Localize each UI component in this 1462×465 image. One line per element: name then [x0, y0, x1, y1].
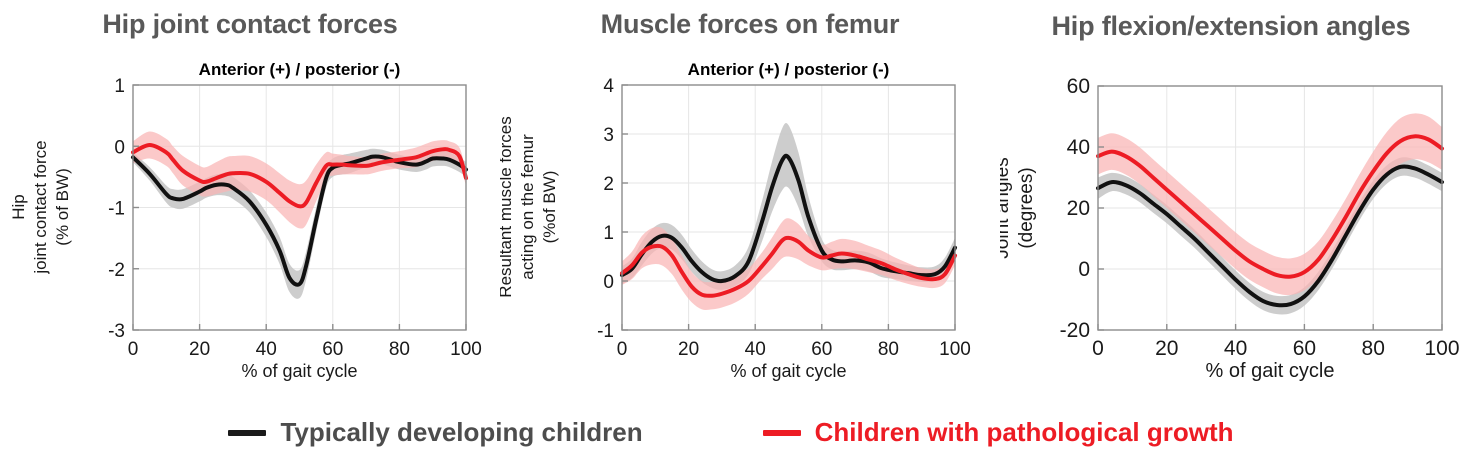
chart-svg-hip-flexion-extension-angles: 0204060801006040200-20% of gait cycleJoi… — [1000, 72, 1462, 400]
svg-text:(degrees): (degrees) — [1016, 167, 1037, 248]
legend-item-typically-developing: Typically developing children — [228, 417, 642, 448]
svg-text:% of gait cycle: % of gait cycle — [730, 361, 846, 381]
svg-text:0: 0 — [128, 339, 139, 360]
chart-svg-muscle-forces-on-femur: 02040608010043210-1Anterior (+) / poster… — [500, 55, 1000, 400]
svg-text:100: 100 — [450, 339, 482, 360]
svg-text:40: 40 — [256, 339, 277, 360]
panel-title: Hip flexion/extension angles — [1000, 12, 1462, 41]
svg-text:60: 60 — [1067, 75, 1090, 98]
svg-text:3: 3 — [603, 125, 614, 146]
svg-text:0: 0 — [617, 339, 628, 360]
svg-text:-3: -3 — [108, 321, 125, 342]
svg-text:joint contact force: joint contact force — [31, 140, 50, 274]
gait-analysis-figure: Hip joint contact forces 02040608010010-… — [0, 0, 1462, 465]
svg-text:20: 20 — [1067, 197, 1090, 220]
svg-text:(% of BW): (% of BW) — [53, 168, 72, 245]
svg-text:0: 0 — [1092, 337, 1104, 360]
figure-legend: Typically developing children Children w… — [0, 400, 1462, 465]
chart-svg-hip-joint-contact-forces: 02040608010010-1-2-3Anterior (+) / poste… — [0, 55, 500, 400]
legend-swatch-pathological-growth — [763, 430, 801, 436]
svg-text:1: 1 — [603, 223, 614, 244]
svg-text:100: 100 — [1424, 337, 1459, 360]
svg-text:40: 40 — [1224, 337, 1247, 360]
svg-text:Anterior (+) / posterior (-): Anterior (+) / posterior (-) — [199, 60, 401, 79]
legend-swatch-typically-developing — [228, 430, 266, 436]
svg-text:40: 40 — [745, 339, 766, 360]
svg-text:60: 60 — [1293, 337, 1316, 360]
plot-area-wrapper: 02040608010043210-1Anterior (+) / poster… — [500, 55, 1000, 400]
legend-label-typically-developing: Typically developing children — [280, 417, 642, 448]
chart-panels-row: Hip joint contact forces 02040608010010-… — [0, 0, 1462, 400]
svg-text:40: 40 — [1067, 136, 1090, 159]
svg-text:60: 60 — [322, 339, 343, 360]
svg-text:80: 80 — [878, 339, 899, 360]
panel-title: Hip joint contact forces — [0, 10, 500, 39]
svg-text:% of gait cycle: % of gait cycle — [1206, 360, 1335, 382]
panel-muscle-forces-on-femur: Muscle forces on femur 02040608010043210… — [500, 0, 1000, 400]
svg-text:(%of BW): (%of BW) — [540, 171, 559, 244]
svg-text:80: 80 — [1362, 337, 1385, 360]
svg-text:Hip: Hip — [9, 194, 28, 220]
svg-text:-1: -1 — [597, 321, 614, 342]
svg-text:4: 4 — [603, 76, 614, 97]
svg-text:-2: -2 — [108, 260, 125, 281]
legend-item-pathological-growth: Children with pathological growth — [763, 417, 1234, 448]
plot-area-wrapper: 02040608010010-1-2-3Anterior (+) / poste… — [0, 55, 500, 400]
svg-text:acting on the femur: acting on the femur — [518, 134, 537, 280]
svg-text:0: 0 — [603, 272, 614, 293]
svg-text:% of gait cycle: % of gait cycle — [241, 361, 357, 381]
svg-text:0: 0 — [1078, 258, 1090, 281]
svg-text:0: 0 — [114, 137, 125, 158]
svg-text:20: 20 — [1155, 337, 1178, 360]
svg-text:1: 1 — [114, 76, 125, 97]
svg-text:80: 80 — [389, 339, 410, 360]
svg-text:60: 60 — [811, 339, 832, 360]
panel-hip-joint-contact-forces: Hip joint contact forces 02040608010010-… — [0, 0, 500, 400]
svg-text:Anterior (+) / posterior (-): Anterior (+) / posterior (-) — [688, 60, 890, 79]
svg-text:2: 2 — [603, 174, 614, 195]
svg-text:Joint angles: Joint angles — [1000, 157, 1013, 258]
svg-text:-20: -20 — [1060, 319, 1090, 342]
panel-title: Muscle forces on femur — [500, 10, 1000, 39]
legend-label-pathological-growth: Children with pathological growth — [815, 417, 1234, 448]
svg-text:Resultant muscle forces: Resultant muscle forces — [500, 116, 515, 297]
svg-text:20: 20 — [189, 339, 210, 360]
svg-text:-1: -1 — [108, 199, 125, 220]
svg-text:20: 20 — [678, 339, 699, 360]
panel-hip-flexion-extension-angles: Hip flexion/extension angles 02040608010… — [1000, 0, 1462, 400]
svg-text:100: 100 — [939, 339, 971, 360]
plot-area-wrapper: 0204060801006040200-20% of gait cycleJoi… — [1000, 72, 1462, 400]
